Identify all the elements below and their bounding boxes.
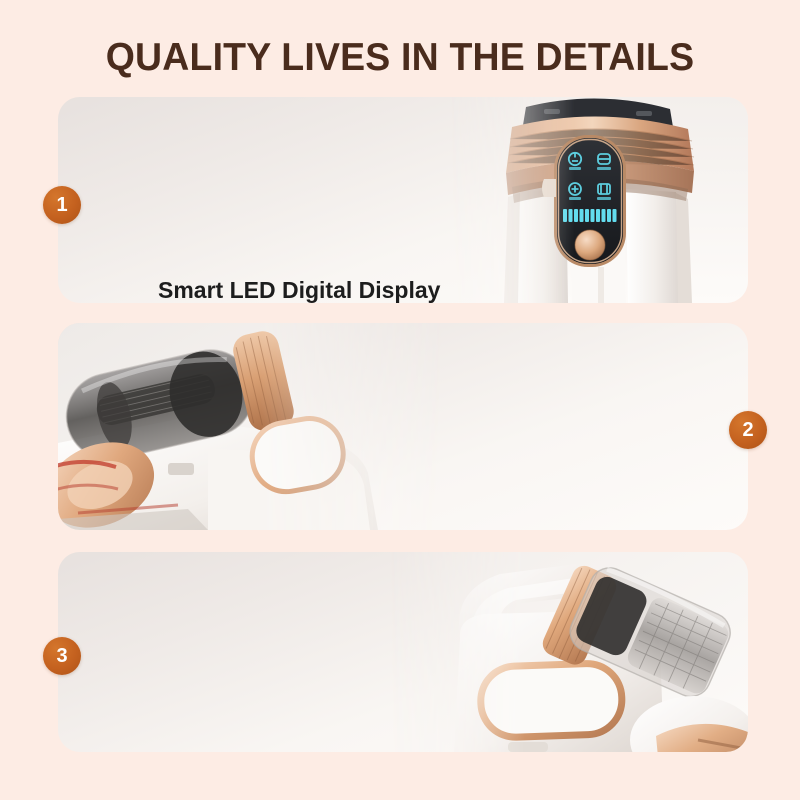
vacuum-dustbin-photo (58, 323, 448, 530)
page-title: QUALITY LIVES IN THE DETAILS (16, 36, 784, 80)
feature-card-2: Dual Cyclonic Dustbin System 2.0 Upgrade… (58, 323, 748, 530)
infographic-page: QUALITY LIVES IN THE DETAILS (0, 0, 800, 800)
feature-number-badge-3: 3 (43, 637, 81, 675)
vacuum-led-display-photo (448, 97, 748, 303)
vacuum-grip-handle-photo (388, 552, 748, 752)
feature-card-3: Ergonomic Grip Handle Labor-Saving Ergon… (58, 552, 748, 752)
feature-1-text: Smart LED Digital Display Easy Start, Cl… (158, 277, 440, 303)
feature-number-badge-1: 1 (43, 186, 81, 224)
feature-card-1: Smart LED Digital Display Easy Start, Cl… (58, 97, 748, 303)
feature-number-badge-2: 2 (729, 411, 767, 449)
feature-1-title: Smart LED Digital Display (158, 277, 440, 303)
